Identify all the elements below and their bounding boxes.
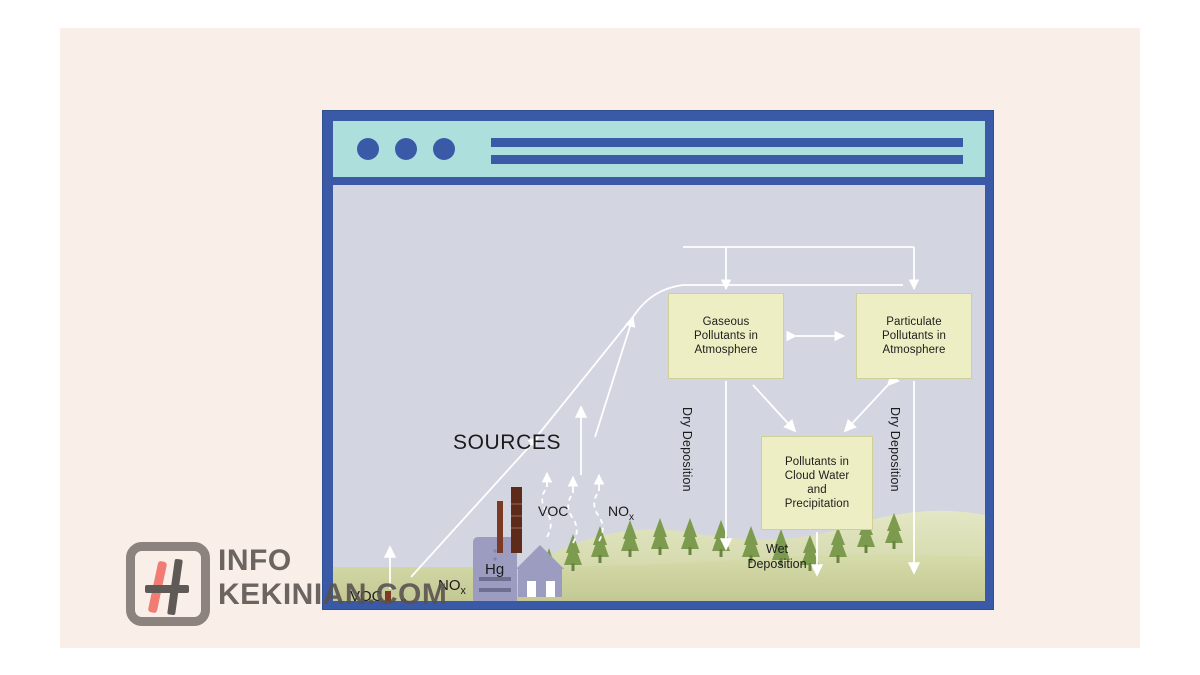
label-voc-natural: VOC [538, 503, 568, 519]
watermark-line-2: KEKINIAN.COM [218, 578, 447, 612]
label-nox-a-subscript: x [461, 585, 466, 597]
label-dry-deposition-right: Dry Deposition [888, 407, 902, 492]
address-bar[interactable] [491, 138, 963, 164]
arrow-gaseous-to-cloud [753, 385, 795, 431]
window-dot-3-icon[interactable] [433, 138, 455, 160]
arrow-source-to-sky-2 [595, 317, 633, 437]
address-bar-line-1 [491, 138, 963, 147]
box-gaseous-pollutants[interactable]: Gaseous Pollutants in Atmosphere [668, 293, 784, 379]
window-dot-2-icon[interactable] [395, 138, 417, 160]
label-hg: Hg [485, 561, 504, 578]
window-controls [357, 138, 455, 160]
browser-title-bar [333, 121, 985, 177]
window-dot-1-icon[interactable] [357, 138, 379, 160]
diagram-canvas: Gaseous Pollutants in Atmosphere Particu… [333, 185, 985, 601]
box-cloud-water-precipitation[interactable]: Pollutants in Cloud Water and Precipitat… [761, 436, 873, 530]
natural-plume-3 [594, 491, 603, 541]
label-nox-b-text: NO [608, 503, 629, 519]
watermark-h-bar-icon [145, 585, 189, 593]
browser-window-frame: Gaseous Pollutants in Atmosphere Particu… [322, 110, 994, 610]
label-wet-deposition: Wet Deposition [731, 542, 823, 572]
natural-plume-2 [568, 493, 577, 543]
watermark: INFO KEKINIAN.COM [126, 540, 456, 640]
address-bar-line-2 [491, 155, 963, 164]
label-dry-deposition-left: Dry Deposition [680, 407, 694, 492]
screenshot-root: Gaseous Pollutants in Atmosphere Particu… [0, 0, 1200, 675]
flow-arrow-layer [333, 185, 985, 601]
page-card: Gaseous Pollutants in Atmosphere Particu… [60, 28, 1140, 648]
arrow-particulate-to-cloud [845, 385, 888, 431]
box-particulate-pollutants[interactable]: Particulate Pollutants in Atmosphere [856, 293, 972, 379]
label-nox-natural: NOx [608, 503, 634, 523]
watermark-logo-icon [126, 542, 210, 626]
watermark-text: INFO KEKINIAN.COM [218, 544, 447, 612]
label-nox-b-subscript: x [629, 512, 634, 523]
watermark-line-1: INFO [218, 544, 447, 578]
label-sources: SOURCES [453, 431, 561, 455]
